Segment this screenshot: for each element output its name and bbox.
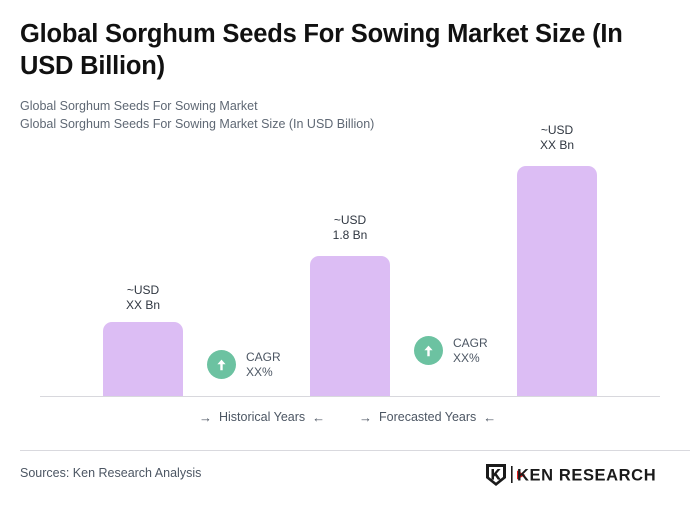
bar-chart: ~USD XX Bn CAGR XX% ~USD 1.8 Bn: [0, 0, 700, 440]
cagr-badge-2-text: CAGR XX%: [453, 336, 488, 365]
legend-label-historical-years: Historical Years: [219, 410, 305, 424]
legend-label-forecasted-years: Forecasted Years: [379, 410, 476, 424]
arrow-right-icon: →: [199, 411, 212, 424]
bar-value-label-2-line1: ~USD: [290, 213, 410, 228]
chart-page: Global Sorghum Seeds For Sowing Market S…: [0, 0, 700, 520]
bar-value-label-2: ~USD 1.8 Bn: [290, 213, 410, 242]
arrow-up-icon: [414, 336, 443, 365]
cagr-badge-2-line1: CAGR: [453, 336, 488, 351]
arrow-left-icon: ←: [312, 411, 325, 424]
bar-2[interactable]: [310, 256, 390, 396]
chart-legend: → Historical Years ← → Forecasted Years …: [0, 410, 700, 430]
bar-1[interactable]: [103, 322, 183, 396]
cagr-badge-2-line2: XX%: [453, 351, 488, 366]
legend-item-forecasted-years: → Forecasted Years ←: [359, 410, 496, 424]
bar-value-label-1-line2: XX Bn: [83, 298, 203, 313]
arrow-up-icon: [207, 350, 236, 379]
sources-text: Sources: Ken Research Analysis: [20, 466, 201, 480]
bar-3[interactable]: [517, 166, 597, 396]
shield-icon: [486, 464, 506, 486]
bar-value-label-3-line1: ~USD: [497, 123, 617, 138]
bar-value-label-3-line2: XX Bn: [497, 138, 617, 153]
cagr-badge-1[interactable]: CAGR XX%: [207, 350, 281, 379]
cagr-badge-1-line2: XX%: [246, 365, 281, 380]
footer-divider: [20, 450, 690, 451]
chart-baseline: [40, 396, 660, 397]
cagr-badge-1-line1: CAGR: [246, 350, 281, 365]
cagr-badge-1-text: CAGR XX%: [246, 350, 281, 379]
legend-item-historical-years: → Historical Years ←: [199, 410, 325, 424]
ken-research-logo: KEN RESEARCH: [484, 463, 656, 487]
arrow-left-icon: ←: [483, 411, 496, 424]
bar-value-label-3: ~USD XX Bn: [497, 123, 617, 152]
cagr-badge-2[interactable]: CAGR XX%: [414, 336, 488, 365]
bar-value-label-1-line1: ~USD: [83, 283, 203, 298]
bar-value-label-1: ~USD XX Bn: [83, 283, 203, 312]
logo-wordmark: KEN RESEARCH: [517, 466, 656, 484]
arrow-right-icon: →: [359, 411, 372, 424]
bar-value-label-2-line2: 1.8 Bn: [290, 228, 410, 243]
